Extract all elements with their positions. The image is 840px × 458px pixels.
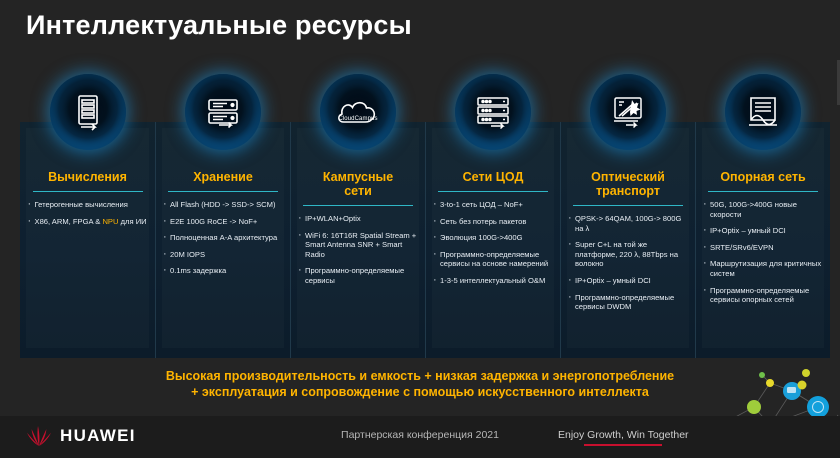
storage-array-icon <box>185 74 261 150</box>
list-item: 1-3-5 интеллектуальный O&M <box>432 276 554 286</box>
list-item: 0.1ms задержка <box>162 266 284 276</box>
list-item: Эволюция 100G->400G <box>432 233 554 243</box>
resource-card-storage[interactable]: Хранение All Flash (HDD -> SSD-> SCM) E2… <box>155 122 290 358</box>
list-item: WiFi 6: 16T16R Spatial Stream + Smart An… <box>297 231 419 260</box>
huawei-flower-icon <box>26 425 52 447</box>
card-bullet-list: All Flash (HDD -> SSD-> SCM) E2E 100G Ro… <box>162 200 284 283</box>
footer-bar: HUAWEI Партнерская конференция 2021 Enjo… <box>0 416 840 458</box>
card-bullet-list: Гетерогенные вычисления X86, ARM, FPGA &… <box>27 200 149 233</box>
backbone-router-icon <box>725 74 801 150</box>
list-item: Программно-определяемые сервисы опорных … <box>702 286 824 305</box>
slogan-underline <box>584 444 662 446</box>
card-divider <box>573 205 683 206</box>
resource-card-datacenter[interactable]: Сети ЦОД 3-to-1 сеть ЦОД – NoF+ Сеть без… <box>425 122 560 358</box>
list-item: 20M IOPS <box>162 250 284 260</box>
list-item: 3-to-1 сеть ЦОД – NoF+ <box>432 200 554 210</box>
list-item: Сеть без потерь пакетов <box>432 217 554 227</box>
list-item: IP+Optix – умный DCI <box>702 226 824 236</box>
card-bullet-list: IP+WLAN+Optix WiFi 6: 16T16R Spatial Str… <box>297 214 419 293</box>
card-panel <box>26 128 149 348</box>
card-title: Сети ЦОД <box>433 170 553 184</box>
card-divider <box>33 191 143 192</box>
list-item: Полноценная A-A архитектура <box>162 233 284 243</box>
slogan-text: Enjoy Growth, Win Together <box>558 429 689 441</box>
card-title: Хранение <box>163 170 283 184</box>
list-item: Super C+L на той же платформе, 220 λ, 88… <box>567 240 689 269</box>
huawei-logo: HUAWEI <box>26 425 136 447</box>
card-divider <box>303 205 413 206</box>
conference-name: Партнерская конференция 2021 <box>341 429 499 441</box>
list-item: 50G, 100G->400G новые скорости <box>702 200 824 219</box>
card-divider <box>438 191 548 192</box>
card-bullet-list: QPSK-> 64QAM, 100G-> 800G на λ Super C+L… <box>567 214 689 319</box>
list-item: Маршрутизация для критичных систем <box>702 259 824 278</box>
list-item: Программно-определяемые сервисы <box>297 266 419 285</box>
card-bullet-list: 50G, 100G->400G новые скорости IP+Optix … <box>702 200 824 312</box>
cloud-campus-icon: CloudCampus <box>320 74 396 150</box>
resource-card-campus[interactable]: CloudCampus Кампусные сети IP+WLAN+Optix… <box>290 122 425 358</box>
resource-card-compute[interactable]: Вычисления Гетерогенные вычисления X86, … <box>20 122 155 358</box>
list-item: IP+WLAN+Optix <box>297 214 419 224</box>
server-rack-icon <box>50 74 126 150</box>
list-item: All Flash (HDD -> SSD-> SCM) <box>162 200 284 210</box>
card-divider <box>708 191 818 192</box>
card-title: Оптический транспорт <box>568 170 688 198</box>
card-divider <box>168 191 278 192</box>
highlight-npu: NPU <box>102 217 118 226</box>
list-item: Программно-определяемые сервисы на основ… <box>432 250 554 269</box>
list-item: QPSK-> 64QAM, 100G-> 800G на λ <box>567 214 689 233</box>
resource-card-backbone[interactable]: Опорная сеть 50G, 100G->400G новые скоро… <box>695 122 830 358</box>
list-item: IP+Optix – умный DCI <box>567 276 689 286</box>
optical-transport-icon <box>590 74 666 150</box>
cloud-campus-label: CloudCampus <box>320 116 396 122</box>
card-title: Опорная сеть <box>703 170 823 184</box>
summary-statement: Высокая производительность и емкость + н… <box>0 368 840 400</box>
list-item: Программно-определяемые сервисы DWDM <box>567 293 689 312</box>
card-title: Кампусные сети <box>298 170 418 198</box>
card-title: Вычисления <box>28 170 148 184</box>
list-item: Гетерогенные вычисления <box>27 200 149 210</box>
list-item: E2E 100G RoCE -> NoF+ <box>162 217 284 227</box>
card-bullet-list: 3-to-1 сеть ЦОД – NoF+ Сеть без потерь п… <box>432 200 554 293</box>
slogan-block: Enjoy Growth, Win Together <box>558 429 689 446</box>
datacenter-switch-icon <box>455 74 531 150</box>
resource-card-optical[interactable]: Оптический транспорт QPSK-> 64QAM, 100G-… <box>560 122 695 358</box>
brand-name: HUAWEI <box>60 426 136 446</box>
list-item: SRTE/SRv6/EVPN <box>702 243 824 253</box>
list-item: X86, ARM, FPGA & NPU для ИИ <box>27 217 149 227</box>
resource-cards-band: Вычисления Гетерогенные вычисления X86, … <box>20 122 830 358</box>
page-title: Интеллектуальные ресурсы <box>26 10 412 41</box>
